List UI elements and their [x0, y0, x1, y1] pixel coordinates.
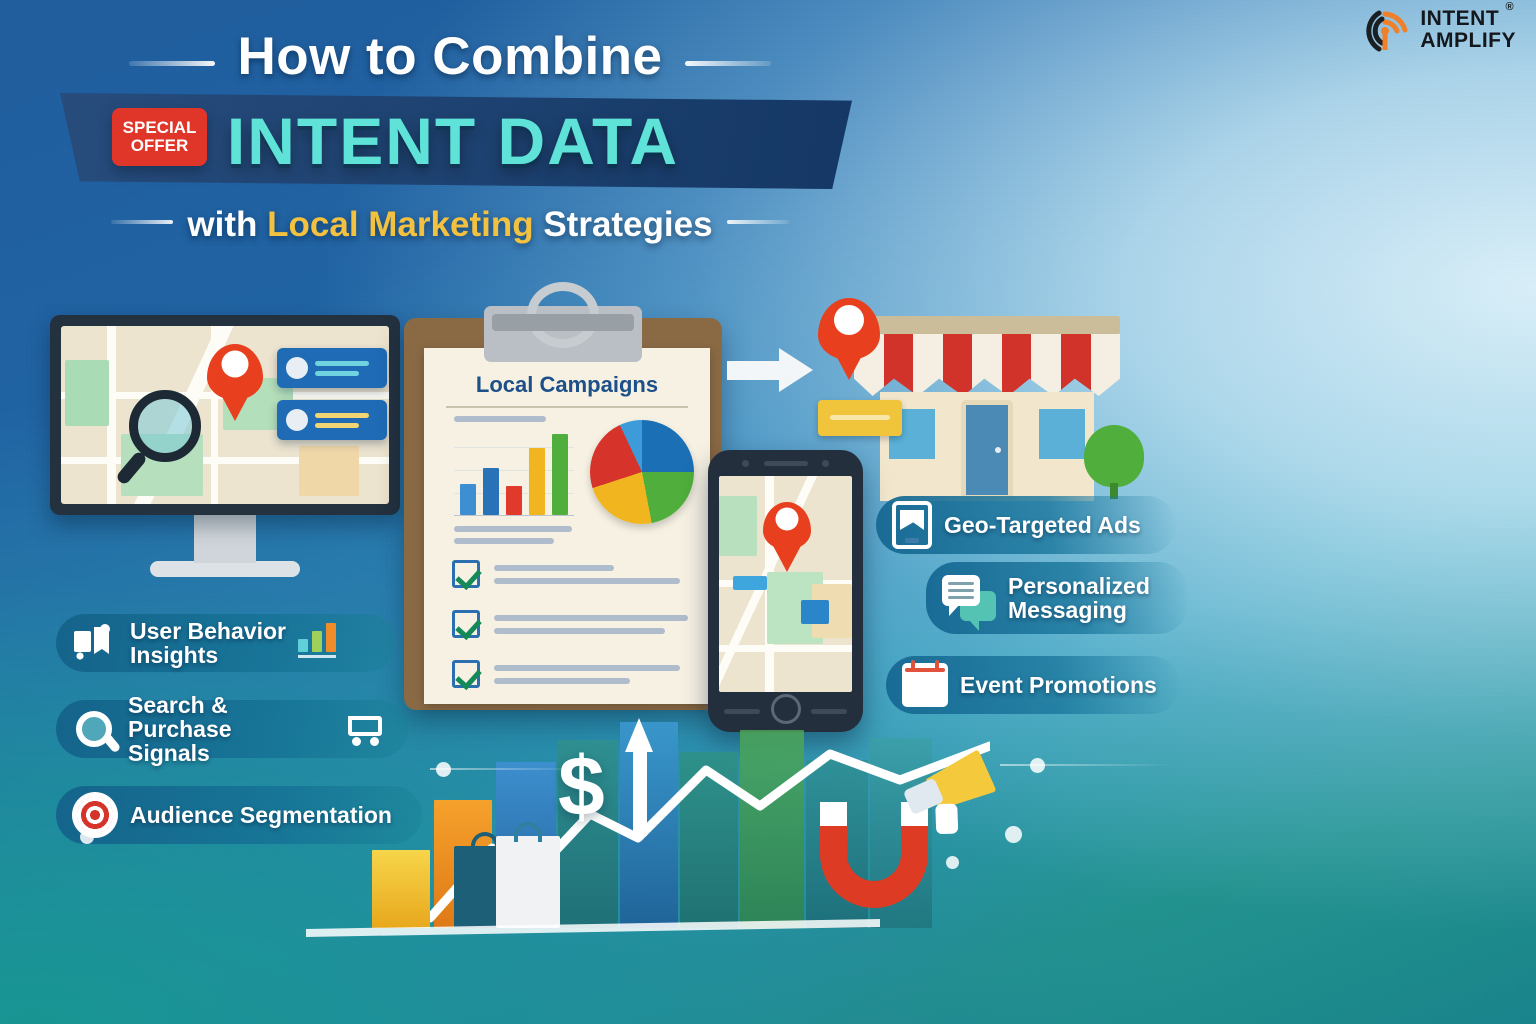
store-roof: [854, 316, 1120, 334]
text-line: [454, 526, 572, 532]
checklist-text: [494, 665, 688, 684]
feature-event-promotions[interactable]: Event Promotions: [886, 656, 1180, 714]
clipboard-title: Local Campaigns: [424, 372, 710, 398]
bar: [529, 448, 545, 515]
calendar-icon: [902, 663, 948, 707]
map-pin-icon: [763, 502, 811, 550]
bar: [460, 484, 476, 515]
phone-key: [724, 709, 760, 714]
headline-line-1-row: How to Combine: [0, 26, 900, 87]
registered-mark: ®: [1506, 2, 1515, 13]
feature-personalized-messaging[interactable]: Personalized Messaging: [926, 562, 1188, 634]
bar: [372, 850, 430, 928]
logo-line2: AMPLIFY: [1420, 31, 1516, 52]
clipboard-clamp: [484, 306, 642, 362]
right-arrow-icon: [727, 348, 813, 392]
checklist-row[interactable]: [452, 660, 688, 688]
result-card[interactable]: [277, 348, 387, 388]
subtitle-highlight: Local Marketing: [267, 205, 533, 244]
bar-chart-icon: [298, 628, 336, 658]
divider-dash-small-left: [111, 220, 173, 224]
monitor-screen: [61, 326, 389, 504]
store-awning: [854, 334, 1120, 396]
magnifier-icon: [129, 390, 201, 462]
map-block: [719, 496, 757, 556]
logo-line1: INTENT®: [1420, 9, 1499, 30]
result-card[interactable]: [277, 400, 387, 440]
subtitle-prefix: with: [187, 205, 267, 244]
connector-line: [430, 768, 580, 770]
checklist-text: [494, 615, 688, 634]
magnet-icon: [820, 804, 928, 908]
monitor-base: [150, 561, 300, 577]
bar-chart: [454, 426, 574, 516]
checkbox-checked[interactable]: [452, 610, 480, 638]
brand-logo[interactable]: INTENT® AMPLIFY: [1365, 8, 1516, 52]
map-block: [299, 446, 359, 496]
feature-label: User Behavior Insights: [130, 619, 286, 667]
checklist-text: [494, 565, 688, 584]
phone-sensor: [822, 460, 829, 467]
wifi-signal-icon: [1365, 8, 1411, 52]
up-arrow-icon: [625, 718, 653, 836]
pie-chart: [590, 420, 694, 524]
monitor-body: [50, 315, 400, 515]
phone-camera: [742, 460, 749, 467]
feature-user-behavior-insights[interactable]: User Behavior Insights: [56, 614, 396, 672]
phone-key: [811, 709, 847, 714]
connector-dot: [946, 856, 959, 869]
text-line: [454, 416, 546, 422]
bar: [552, 434, 568, 515]
divider-dash-left: [129, 61, 215, 66]
brand-logo-text: INTENT® AMPLIFY: [1420, 9, 1516, 51]
avatar: [286, 357, 308, 379]
connector-line: [1000, 764, 1170, 766]
infographic-canvas: INTENT® AMPLIFY How to Combine INTENT DA…: [0, 0, 1536, 1024]
headline-line-1: How to Combine: [237, 26, 662, 87]
feature-label: Geo-Targeted Ads: [944, 513, 1141, 537]
connector-dot: [436, 762, 451, 777]
checkbox-checked[interactable]: [452, 560, 480, 588]
special-offer-badge: SPECIAL OFFER: [112, 108, 207, 166]
growth-chart: $: [300, 718, 1000, 948]
phone-speaker: [764, 461, 808, 466]
divider-dash-right: [685, 61, 771, 66]
store-sign: [818, 400, 902, 436]
bar: [483, 468, 499, 515]
map-highlight: [733, 576, 767, 590]
desktop-monitor: [50, 315, 400, 585]
divider-dash-small-right: [727, 220, 789, 224]
tablet-icon: [892, 501, 932, 549]
avatar: [286, 409, 308, 431]
clipboard: Local Campaigns: [404, 318, 722, 710]
feature-label: Event Promotions: [960, 673, 1157, 697]
bar: [506, 486, 522, 515]
clipboard-paper: Local Campaigns: [424, 348, 710, 704]
tree-icon: [1084, 425, 1144, 499]
map-block: [65, 360, 109, 426]
monitor-stand: [194, 511, 256, 563]
feature-geo-targeted-ads[interactable]: Geo-Targeted Ads: [876, 496, 1176, 554]
checklist-row[interactable]: [452, 610, 688, 638]
map-pin-icon: [207, 344, 263, 400]
phone-screen[interactable]: [719, 476, 852, 692]
dollar-symbol: $: [558, 744, 605, 828]
store-wall: [880, 392, 1094, 501]
subtitle-suffix: Strategies: [534, 205, 713, 244]
map-pin-icon: [818, 298, 880, 360]
user-behavior-icon: [72, 623, 118, 663]
feature-label: Personalized Messaging: [1008, 574, 1150, 622]
clipboard-rule: [446, 406, 688, 408]
magnifier-icon: [72, 707, 116, 751]
map-highlight: [801, 600, 829, 624]
connector-dot: [80, 830, 94, 844]
storefront-icon: [862, 316, 1112, 501]
headline-line-3: with Local Marketing Strategies: [0, 205, 900, 245]
connector-dot: [1005, 826, 1022, 843]
connector-dot: [1030, 758, 1045, 773]
store-window: [1034, 404, 1090, 464]
smartphone: [708, 450, 863, 732]
checkbox-checked[interactable]: [452, 660, 480, 688]
shopping-bag-icon: [496, 836, 560, 928]
text-line: [454, 538, 554, 544]
checklist-row[interactable]: [452, 560, 688, 588]
store-door: [961, 400, 1013, 500]
target-icon: [72, 792, 118, 838]
chat-bubbles-icon: [942, 575, 996, 621]
